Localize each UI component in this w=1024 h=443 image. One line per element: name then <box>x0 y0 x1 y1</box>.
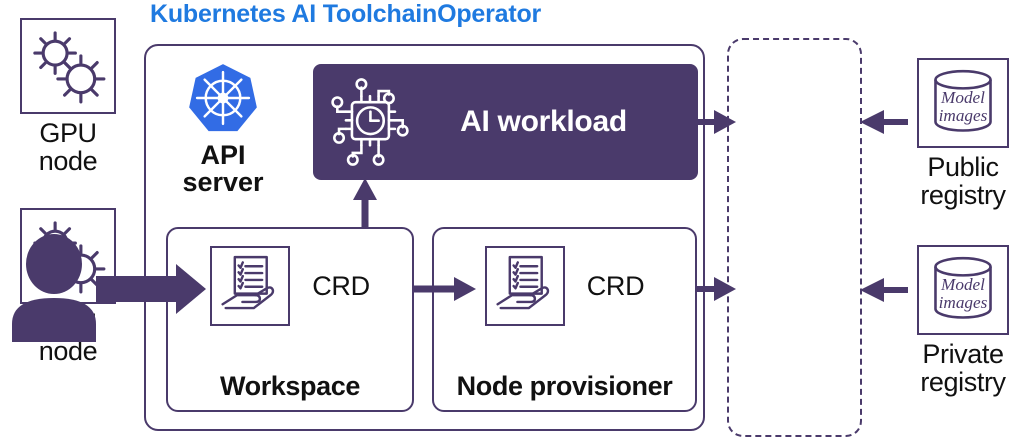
gpu-cogs-icon <box>20 18 116 114</box>
ai-workload-box[interactable]: AI workload <box>313 64 698 180</box>
workspace-crd-row: CRD <box>168 246 412 326</box>
workspace-box[interactable]: CRD Workspace <box>166 227 414 412</box>
crd-hand-checklist-icon <box>210 246 290 326</box>
api-server-label: API server <box>158 142 288 196</box>
workspace-title: Workspace <box>168 371 412 402</box>
registry-icon-text-line2: images <box>939 106 988 125</box>
private-registry-label: Private registry <box>908 341 1018 396</box>
database-cylinder-icon: Model images <box>917 245 1009 335</box>
private-registry-label-line1: Private <box>908 341 1018 369</box>
registry-icon-text-line2: images <box>939 293 988 312</box>
private-registry[interactable]: Model images Private registry <box>908 245 1018 396</box>
node-provisioner-crd-row: CRD <box>434 246 695 326</box>
ai-workload-label: AI workload <box>413 105 698 139</box>
api-server-label-line2: server <box>158 169 288 196</box>
arrow-public-registry-to-gpu-node-1 <box>860 110 908 134</box>
api-server-label-line1: API <box>158 142 288 169</box>
workspace-crd-label: CRD <box>312 271 370 302</box>
kubernetes-logo-icon <box>187 62 259 134</box>
arrow-private-registry-to-gpu-node-2 <box>860 278 908 302</box>
node-provisioner-title: Node provisioner <box>434 371 695 402</box>
public-registry-label-line1: Public <box>908 154 1018 182</box>
ai-chip-clock-icon <box>327 77 413 167</box>
public-registry-label-line2: registry <box>908 182 1018 210</box>
node-provisioner-crd-label: CRD <box>587 271 645 302</box>
gpu-node-1-label-line2: node <box>20 148 116 176</box>
gpu-node-1-label: GPU node <box>20 120 116 175</box>
registry-icon-text-line1: Model <box>940 275 985 294</box>
gpu-node-group <box>727 38 862 437</box>
registry-icon-text-line1: Model <box>940 88 985 107</box>
user-person-icon <box>8 232 100 342</box>
database-cylinder-icon: Model images <box>917 58 1009 148</box>
crd-hand-checklist-icon <box>485 246 565 326</box>
api-server-group: API server <box>158 62 288 196</box>
public-registry-label: Public registry <box>908 154 1018 209</box>
node-provisioner-box[interactable]: CRD Node provisioner <box>432 227 697 412</box>
gpu-node-1[interactable]: GPU node <box>20 18 116 175</box>
private-registry-label-line2: registry <box>908 369 1018 397</box>
public-registry[interactable]: Model images Public registry <box>908 58 1018 209</box>
gpu-node-1-label-line1: GPU <box>20 120 116 148</box>
page-title: Kubernetes AI ToolchainOperator <box>150 0 541 29</box>
